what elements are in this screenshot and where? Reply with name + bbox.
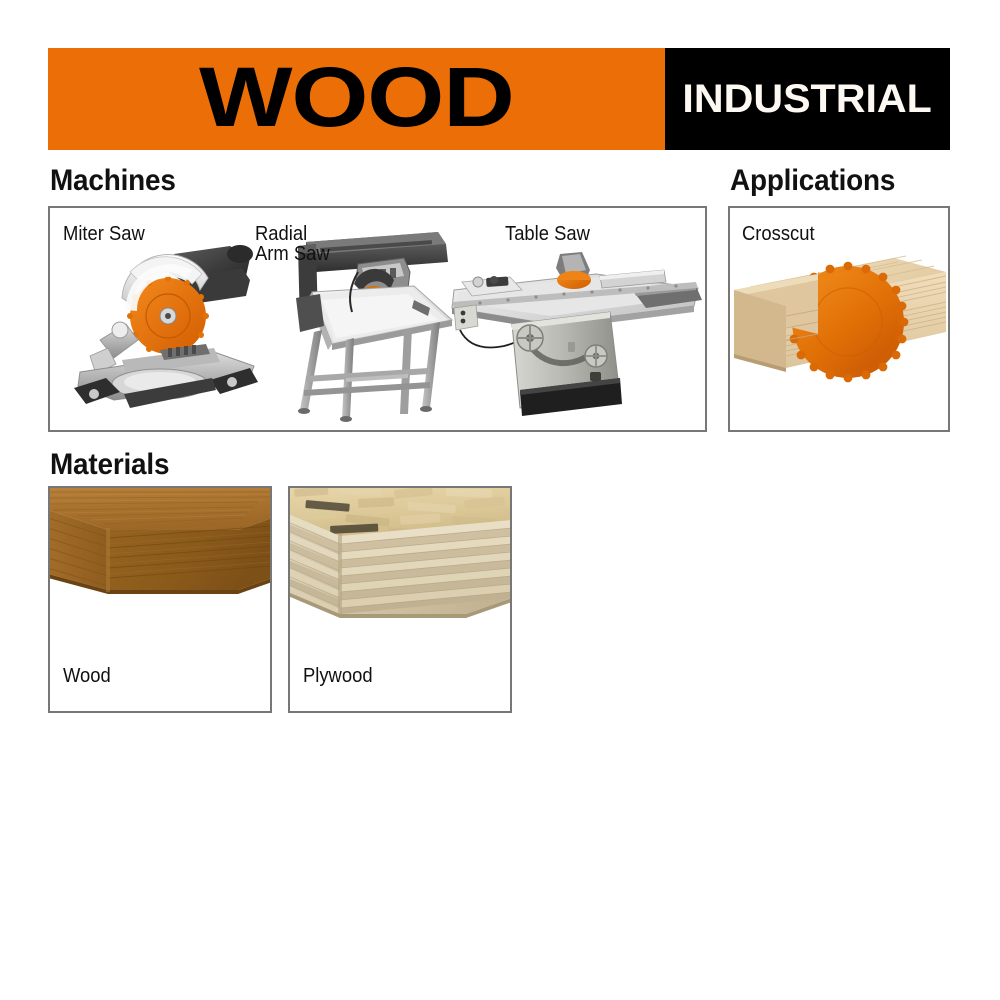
applications-panel: Crosscut bbox=[728, 206, 950, 432]
material-panel-plywood: Plywood bbox=[288, 486, 512, 713]
table-saw-icon bbox=[450, 246, 707, 416]
crosscut-blade-icon bbox=[730, 246, 950, 406]
material-label-wood: Wood bbox=[63, 666, 111, 686]
section-heading-applications: Applications bbox=[730, 166, 895, 196]
material-label-plywood: Plywood bbox=[303, 666, 373, 686]
machine-label-miter-saw: Miter Saw bbox=[63, 224, 145, 244]
machine-label-radial-line2: Arm Saw bbox=[255, 244, 330, 264]
machine-label-table-saw: Table Saw bbox=[505, 224, 590, 244]
spec-sheet-page: WOOD INDUSTRIAL Machines Applications Ma… bbox=[0, 0, 1000, 1000]
section-heading-materials: Materials bbox=[50, 450, 169, 480]
industrial-badge: INDUSTRIAL bbox=[683, 79, 932, 119]
header-title-block: WOOD bbox=[48, 48, 665, 150]
machine-label-radial-line1: Radial bbox=[255, 224, 330, 244]
header-badge-block: INDUSTRIAL bbox=[665, 48, 950, 150]
miter-saw-icon bbox=[64, 232, 264, 422]
wood-block-icon bbox=[48, 486, 272, 626]
application-label-crosscut: Crosscut bbox=[742, 224, 815, 244]
plywood-block-icon bbox=[288, 486, 512, 636]
header-bar: WOOD INDUSTRIAL bbox=[48, 48, 950, 150]
material-panel-wood: Wood bbox=[48, 486, 272, 713]
section-heading-machines: Machines bbox=[50, 166, 176, 196]
page-title: WOOD bbox=[199, 61, 514, 137]
machines-panel: Miter Saw Radial Arm Saw Table Saw bbox=[48, 206, 707, 432]
machine-label-radial-arm-saw: Radial Arm Saw bbox=[255, 224, 330, 264]
